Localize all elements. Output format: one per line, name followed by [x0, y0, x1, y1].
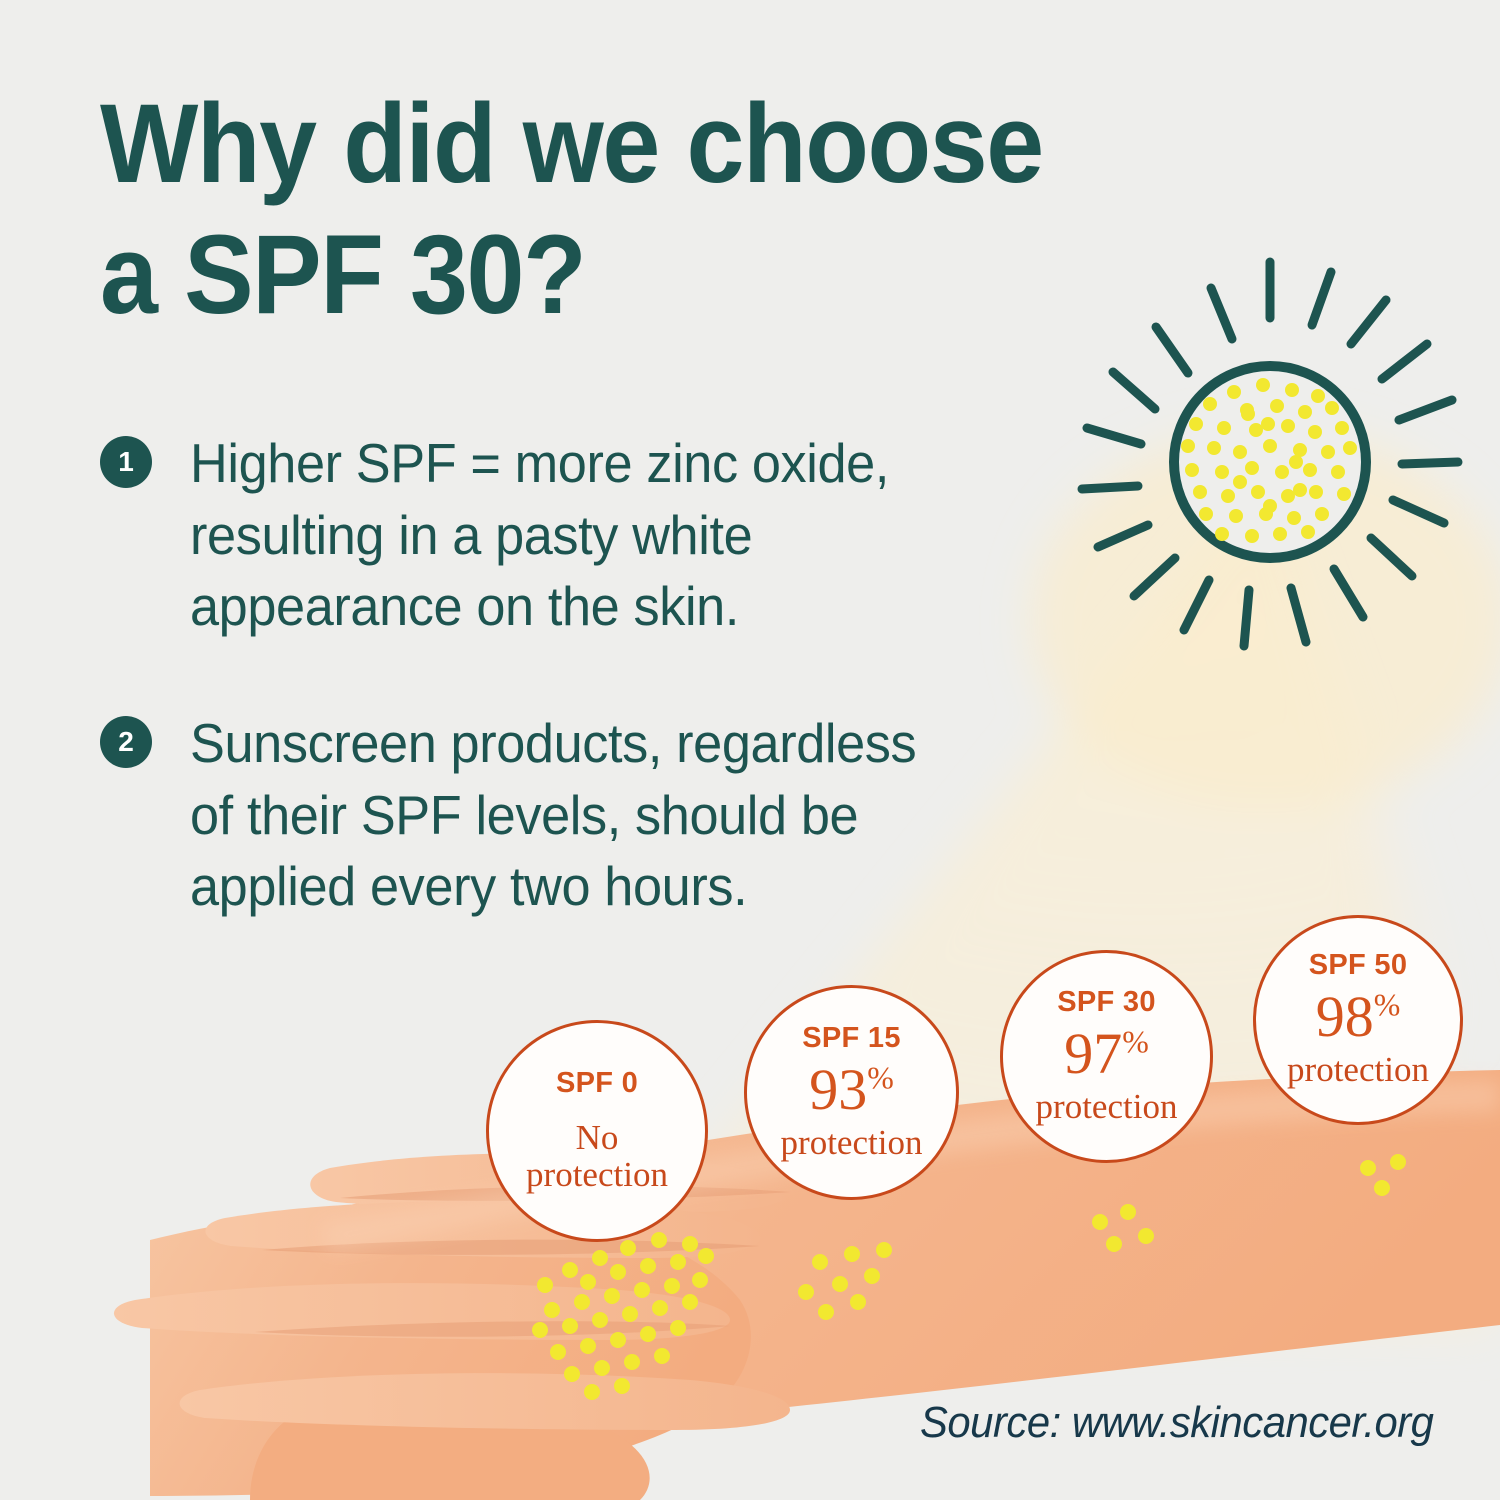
point-2: 2 Sunscreen products, regardless of thei…	[100, 708, 955, 923]
spf-0-protection: No protection	[526, 1120, 668, 1194]
point-1-badge: 1	[100, 436, 152, 488]
point-1: 1 Higher SPF = more zinc oxide, resultin…	[100, 428, 926, 643]
point-2-badge: 2	[100, 716, 152, 768]
sun-disc	[1174, 366, 1366, 558]
spf-50-percent-value: 98	[1316, 984, 1374, 1049]
spf-30-protection: protection	[1036, 1089, 1178, 1126]
source-attribution: Source: www.skincancer.org	[920, 1398, 1433, 1448]
spf-15-percent-symbol: %	[867, 1060, 894, 1095]
spf-30-label: SPF 30	[1057, 988, 1156, 1017]
page-title: Why did we choose a SPF 30?	[100, 78, 1216, 340]
spf-30-circle: SPF 30 97% protection	[1000, 950, 1213, 1163]
spf-15-percent-value: 93	[809, 1057, 867, 1122]
spf-0-label: SPF 0	[556, 1069, 638, 1098]
spf-15-protection: protection	[781, 1125, 923, 1162]
spf-15-label: SPF 15	[802, 1024, 901, 1053]
spf-15-percent: 93%	[809, 1061, 894, 1119]
spf-15-circle: SPF 15 93% protection	[744, 985, 959, 1200]
spf-30-percent: 97%	[1064, 1025, 1149, 1083]
infographic-canvas: Why did we choose a SPF 30? 1 Higher SPF…	[0, 0, 1500, 1500]
spf-0-circle: SPF 0 No protection	[486, 1020, 708, 1242]
spf-50-protection: protection	[1287, 1052, 1429, 1089]
spf-30-percent-value: 97	[1064, 1021, 1122, 1086]
point-1-text: Higher SPF = more zinc oxide, resulting …	[190, 428, 889, 643]
spf-50-percent: 98%	[1316, 988, 1401, 1046]
spf-50-circle: SPF 50 98% protection	[1253, 915, 1463, 1125]
spf-30-percent-symbol: %	[1122, 1024, 1149, 1059]
spf-50-percent-symbol: %	[1374, 988, 1401, 1023]
point-2-text: Sunscreen products, regardless of their …	[190, 708, 916, 923]
spf-50-label: SPF 50	[1309, 951, 1408, 980]
